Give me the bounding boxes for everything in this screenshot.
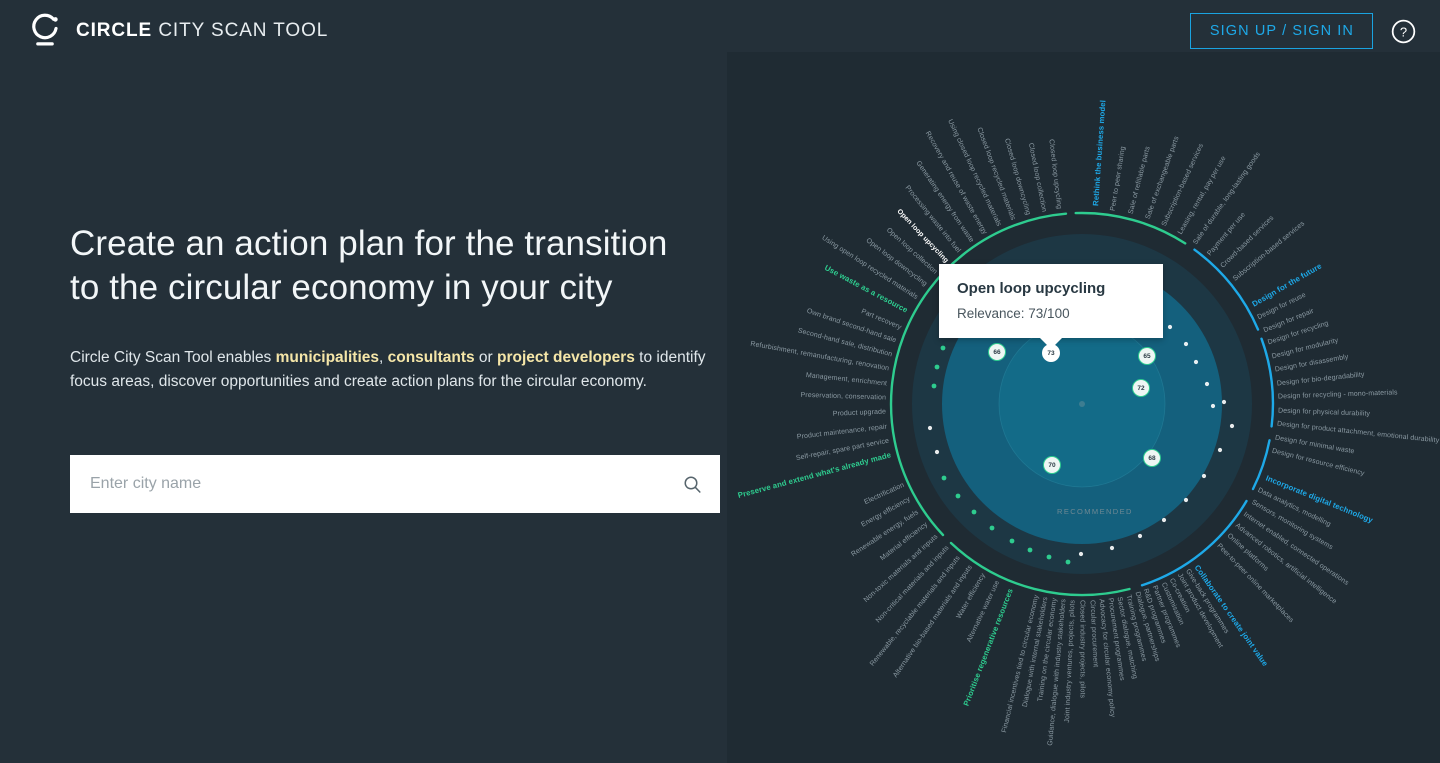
score-bubble-72[interactable]: 72 — [1132, 379, 1150, 397]
circularity-radial-visualization[interactable]: Use waste as a resourceUsing open loop r… — [727, 52, 1440, 763]
hero-description: Circle City Scan Tool enables municipali… — [70, 346, 710, 394]
arc-design-future — [1262, 339, 1273, 427]
highlight-project-developers: project developers — [497, 349, 635, 366]
search-icon — [682, 474, 703, 495]
score-bubble-68[interactable]: 68 — [1143, 449, 1161, 467]
spoke-label-4-12[interactable]: Closed industry projects, pilots — [1079, 600, 1086, 698]
hero-section: Create an action plan for the transition… — [70, 222, 720, 513]
score-bubble-70[interactable]: 70 — [1043, 456, 1061, 474]
search-submit-button[interactable] — [664, 455, 720, 513]
brand-text: CIRCLE CITY SCAN TOOL — [76, 20, 328, 42]
page-title: Create an action plan for the transition… — [70, 222, 690, 311]
desc-sep-1: , — [379, 349, 388, 366]
score-bubble-66[interactable]: 66 — [988, 343, 1006, 361]
score-bubble-65[interactable]: 65 — [1138, 347, 1156, 365]
help-question-icon[interactable]: ? — [1391, 19, 1416, 44]
recommended-label: RECOMMENDED — [1057, 507, 1133, 516]
chart-center-dot — [1079, 401, 1085, 407]
desc-sep-2: or — [475, 349, 497, 366]
tooltip-relevance: Relevance: 73/100 — [957, 306, 1145, 321]
brand-light: CITY SCAN TOOL — [158, 20, 328, 41]
tooltip-arrow — [1039, 337, 1063, 349]
search-input[interactable] — [70, 455, 664, 513]
highlight-municipalities: municipalities — [276, 349, 379, 366]
city-search-box[interactable] — [70, 455, 720, 513]
top-header: CIRCLE CITY SCAN TOOL SIGN UP / SIGN IN … — [0, 0, 1440, 62]
tooltip-title: Open loop upcycling — [957, 280, 1145, 297]
svg-text:?: ? — [1400, 24, 1407, 39]
brand-bold: CIRCLE — [76, 20, 152, 41]
header-actions: SIGN UP / SIGN IN ? — [1190, 13, 1416, 49]
landing-page: Use waste as a resourceUsing open loop r… — [0, 0, 1440, 763]
hover-tooltip: Open loop upcycling Relevance: 73/100 — [939, 264, 1163, 338]
desc-part-1: Circle City Scan Tool enables — [70, 349, 276, 366]
sign-up-sign-in-button[interactable]: SIGN UP / SIGN IN — [1190, 13, 1373, 49]
highlight-consultants: consultants — [388, 349, 475, 366]
circle-c-logo-icon — [28, 12, 62, 50]
brand-logo[interactable]: CIRCLE CITY SCAN TOOL — [28, 12, 328, 50]
